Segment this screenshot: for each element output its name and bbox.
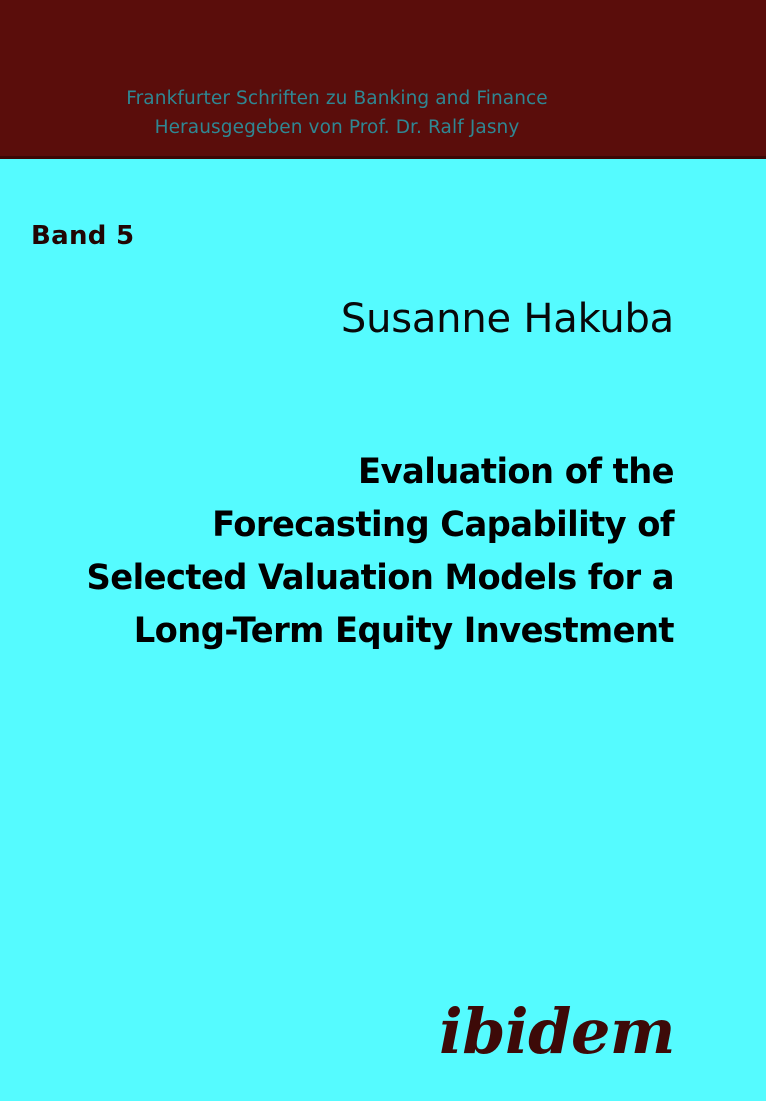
publisher-logo: ibidem (200, 996, 675, 1068)
title-line-4: Long-Term Equity Investment (51, 605, 674, 658)
series-heading: Frankfurter Schriften zu Banking and Fin… (0, 84, 674, 142)
title-line-3: Selected Valuation Models for a (51, 552, 674, 605)
series-band: Frankfurter Schriften zu Banking and Fin… (0, 0, 766, 159)
book-title: Evaluation of the Forecasting Capability… (28, 446, 674, 658)
book-cover: Frankfurter Schriften zu Banking and Fin… (0, 0, 766, 1101)
series-title: Frankfurter Schriften zu Banking and Fin… (0, 84, 674, 113)
series-editor: Herausgegeben von Prof. Dr. Ralf Jasny (0, 113, 674, 142)
title-line-2: Forecasting Capability of (51, 499, 674, 552)
volume-number: Band 5 (31, 219, 134, 253)
author-name: Susanne Hakuba (80, 294, 674, 344)
title-line-1: Evaluation of the (51, 446, 674, 499)
